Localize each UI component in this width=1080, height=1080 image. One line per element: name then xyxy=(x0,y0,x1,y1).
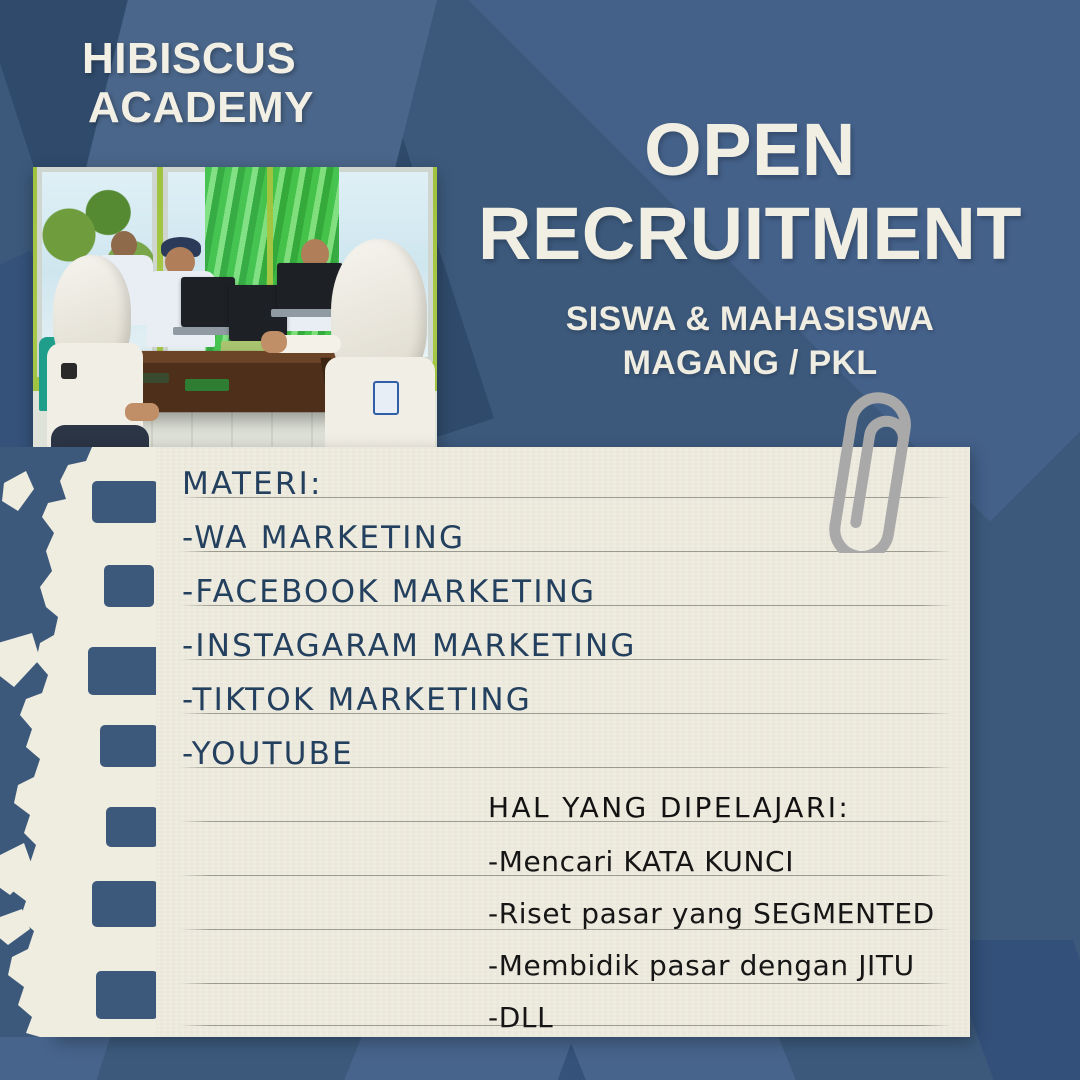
team-photo xyxy=(33,167,437,469)
brand-line-1: HIBISCUS xyxy=(82,34,296,83)
photo-hand-left xyxy=(125,403,159,421)
headline-subtitle: SISWA & MAHASISWA MAGANG / PKL xyxy=(470,297,1030,385)
materi-item: -YOUTUBE xyxy=(182,729,742,783)
headline-title: OPEN RECRUITMENT xyxy=(470,108,1030,277)
hal-item: -Mencari KATA KUNCI xyxy=(488,836,1018,888)
brand-line-2: ACADEMY xyxy=(82,83,314,132)
materi-item: -TIKTOK MARKETING xyxy=(182,675,742,729)
materi-heading: MATERI: xyxy=(182,459,742,513)
hal-item: -Riset pasar yang SEGMENTED xyxy=(488,888,1018,940)
headline-title-line-2: RECRUITMENT xyxy=(470,192,1030,276)
photo-badge-right xyxy=(373,381,399,415)
headline-title-line-1: OPEN xyxy=(470,108,1030,192)
photo-illustration xyxy=(33,167,437,469)
headline-subtitle-line-1: SISWA & MAHASISWA xyxy=(470,297,1030,341)
materi-item: -INSTAGARAM MARKETING xyxy=(182,621,742,675)
poster-root: HIBISCUS ACADEMY xyxy=(0,0,1080,1080)
materi-section: MATERI: -WA MARKETING -FACEBOOK MARKETIN… xyxy=(182,459,742,783)
hal-item: -Membidik pasar dengan JITU xyxy=(488,940,1018,992)
brand-title: HIBISCUS ACADEMY xyxy=(82,34,314,133)
hal-yang-dipelajari-section: HAL YANG DIPELAJARI: -Mencari KATA KUNCI… xyxy=(488,782,1018,1044)
photo-keyboard xyxy=(185,379,229,391)
hal-heading: HAL YANG DIPELAJARI: xyxy=(488,782,1018,836)
hal-item: -DLL xyxy=(488,992,1018,1044)
headline-subtitle-line-2: MAGANG / PKL xyxy=(470,341,1030,385)
materi-item: -WA MARKETING xyxy=(182,513,742,567)
photo-badge-left xyxy=(61,363,77,379)
headline-block: OPEN RECRUITMENT SISWA & MAHASISWA MAGAN… xyxy=(470,108,1030,385)
materi-item: -FACEBOOK MARKETING xyxy=(182,567,742,621)
photo-hand-right xyxy=(261,331,287,353)
paperclip-icon xyxy=(805,378,935,558)
